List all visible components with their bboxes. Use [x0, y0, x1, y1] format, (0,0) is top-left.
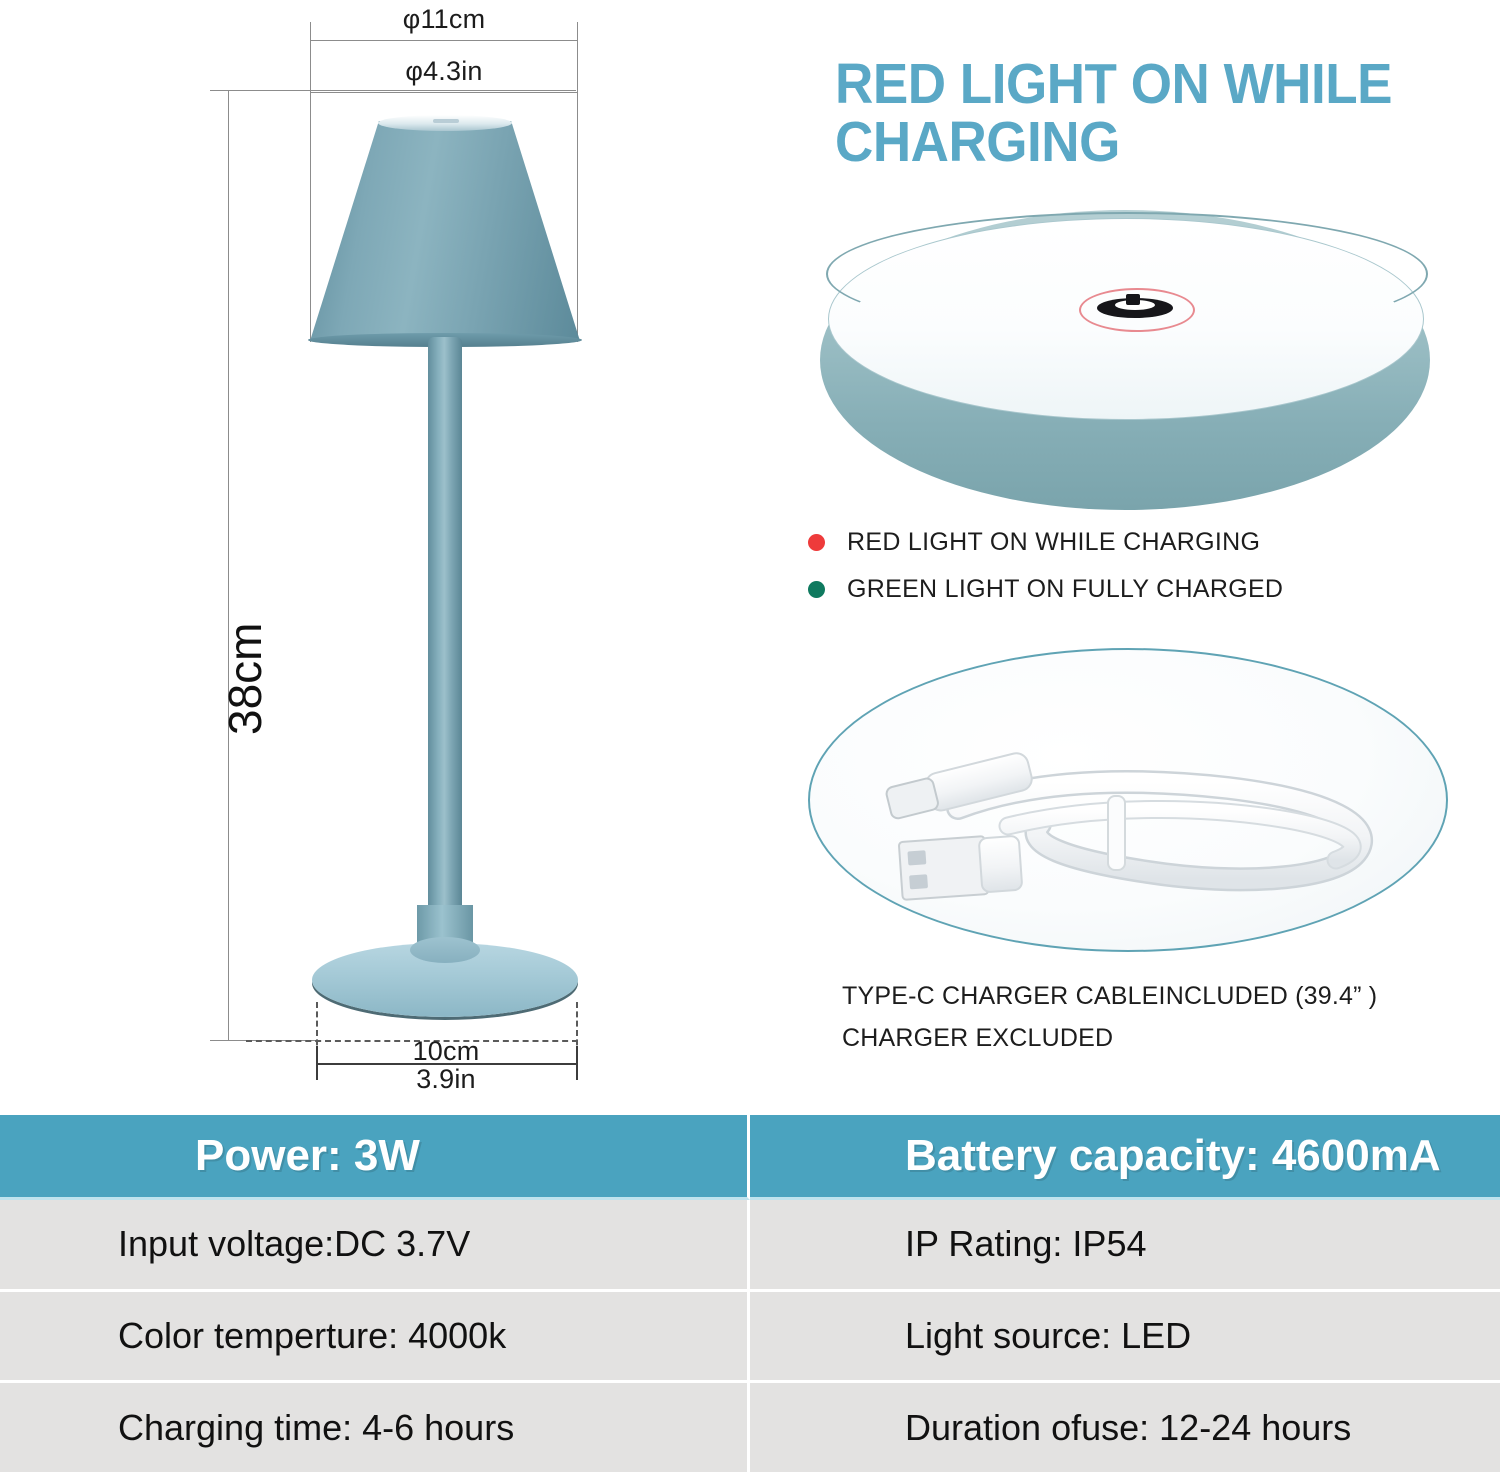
charging-base-illustration: [810, 190, 1450, 520]
dim-label-base-diameter-in: 3.9in: [316, 1064, 576, 1095]
spec-cell-input-voltage: Input voltage:DC 3.7V: [0, 1200, 750, 1292]
spec-header-power: Power: 3W: [0, 1115, 750, 1200]
lamp-dimension-panel: φ11cm φ4.3in 38cm 10cm 3: [0, 0, 750, 1115]
top-section: φ11cm φ4.3in 38cm 10cm 3: [0, 0, 1500, 1115]
list-item: RED LIGHT ON WHILE CHARGING: [808, 528, 1498, 557]
lamp-shade: [310, 121, 580, 341]
ext-line-height-top: [246, 90, 576, 91]
charging-indicator-list: RED LIGHT ON WHILE CHARGING GREEN LIGHT …: [808, 528, 1498, 622]
dim-label-shade-diameter-in: φ4.3in: [310, 56, 578, 87]
dim-line-shade-in: [310, 92, 578, 93]
spec-cell-color-temperature: Color temperture: 4000k: [0, 1292, 750, 1384]
dim-tick-height-bottom: [210, 1040, 246, 1041]
spec-cell-duration-of-use: Duration ofuse: 12-24 hours: [750, 1383, 1500, 1475]
spec-cell-ip-rating: IP Rating: IP54: [750, 1200, 1500, 1292]
lamp-touch-control-icon: [433, 119, 459, 123]
cable-caption-line-2: CHARGER EXCLUDED: [842, 1017, 1500, 1059]
cable-caption-line-1: TYPE-C CHARGER CABLEINCLUDED (39.4” ): [842, 975, 1500, 1017]
dim-label-shade-diameter-cm: φ11cm: [310, 4, 578, 35]
dim-tick-height-top: [210, 90, 246, 91]
headline: RED LIGHT ON WHILE CHARGING: [835, 55, 1430, 171]
spec-cell-light-source: Light source: LED: [750, 1292, 1500, 1384]
usb-cable-icon: [808, 648, 1444, 948]
list-item-label: RED LIGHT ON WHILE CHARGING: [847, 528, 1260, 557]
dim-tick-base-right: [576, 1046, 578, 1080]
list-item-label: GREEN LIGHT ON FULLY CHARGED: [847, 575, 1283, 604]
charger-cable-illustration: [808, 648, 1468, 958]
dim-label-base-diameter-cm: 10cm: [316, 1036, 576, 1067]
lamp-base-hub: [410, 937, 480, 963]
dim-label-height: 38cm: [218, 623, 272, 735]
dim-line-shade-cm: [310, 40, 578, 41]
list-item: GREEN LIGHT ON FULLY CHARGED: [808, 575, 1498, 604]
red-indicator-dot-icon: [808, 534, 825, 551]
power-button-notch-icon: [1126, 294, 1140, 305]
specification-table: Power: 3W Battery capacity: 4600mA Input…: [0, 1115, 1500, 1475]
spec-header-battery: Battery capacity: 4600mA: [750, 1115, 1500, 1200]
spec-cell-charging-time: Charging time: 4-6 hours: [0, 1383, 750, 1475]
dim-line-height: [228, 90, 229, 1040]
cable-caption: TYPE-C CHARGER CABLEINCLUDED (39.4” ) CH…: [842, 975, 1500, 1059]
lamp-shade-top-rim: [378, 115, 512, 131]
green-indicator-dot-icon: [808, 581, 825, 598]
product-infographic: φ11cm φ4.3in 38cm 10cm 3: [0, 0, 1500, 1475]
charging-info-panel: RED LIGHT ON WHILE CHARGING RED LIGHT ON…: [750, 0, 1500, 1115]
lamp-illustration: [300, 105, 590, 1020]
lamp-stem: [428, 337, 462, 947]
